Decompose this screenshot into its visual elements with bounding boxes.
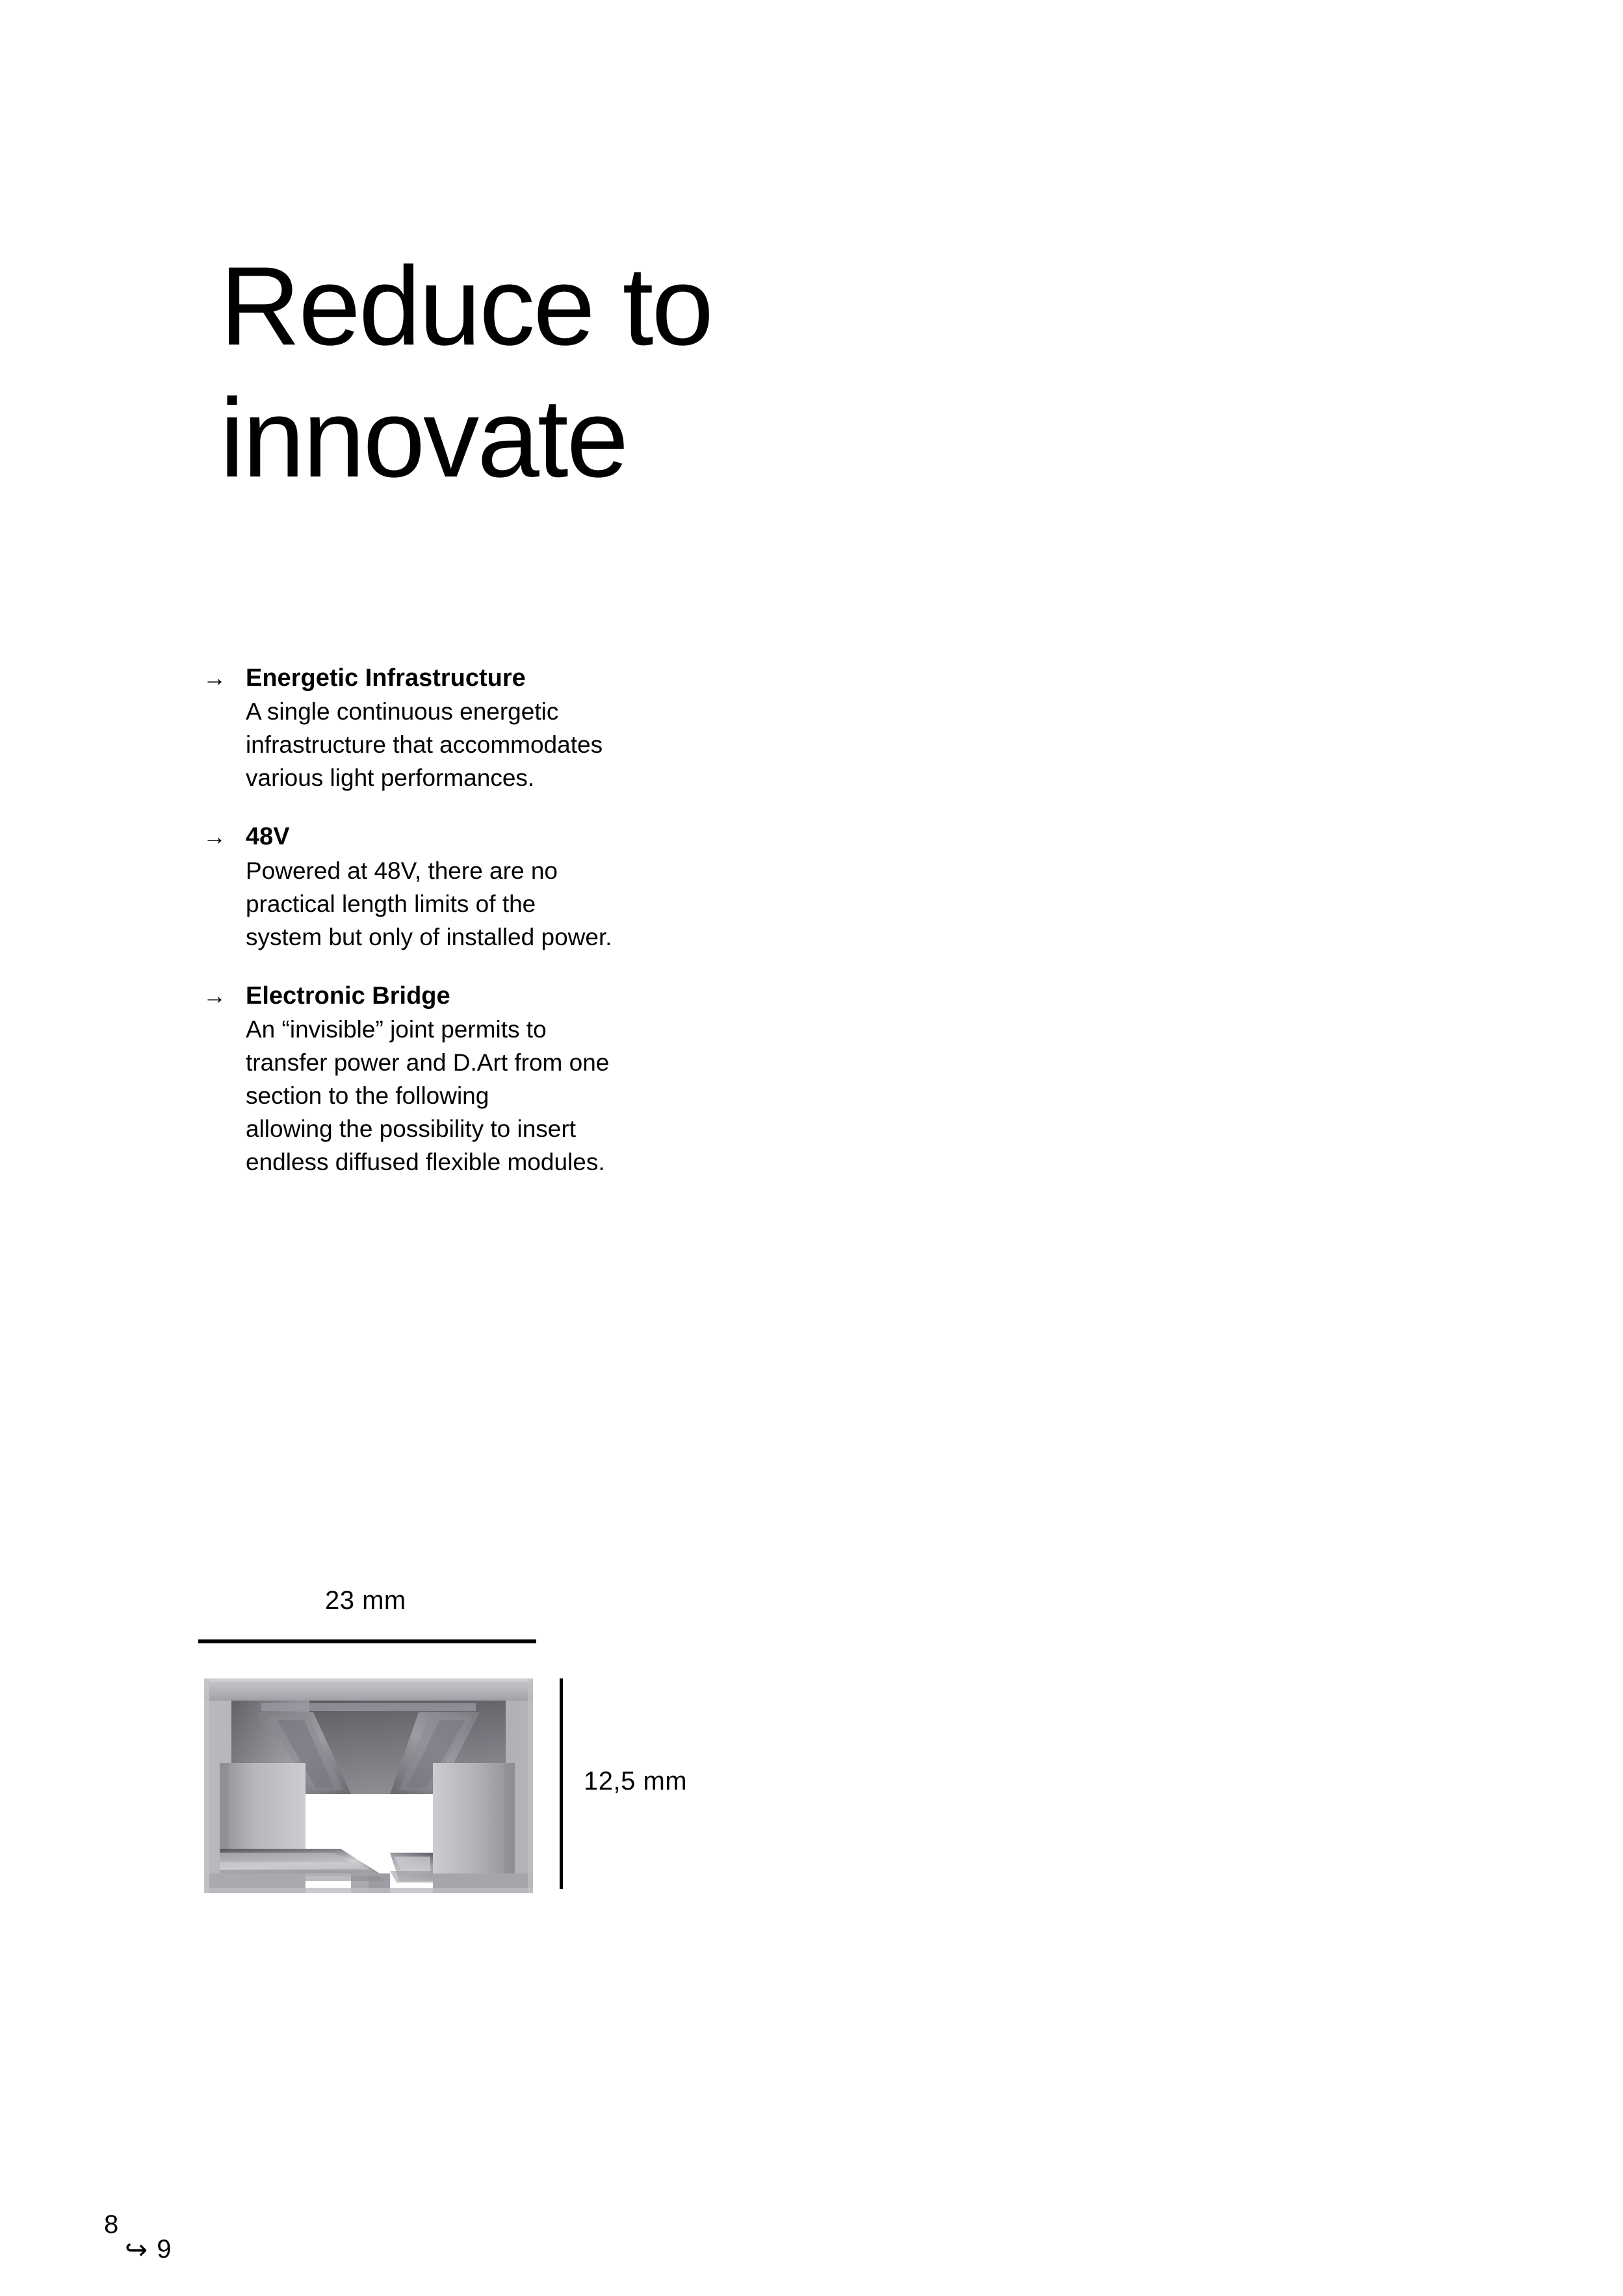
width-dimension-rule: [198, 1639, 536, 1643]
feature-list: → Energetic Infrastructure A single cont…: [203, 662, 853, 1179]
page-title-line-2: innovate: [220, 372, 1130, 504]
document-page: Reduce to innovate → Energetic Infrastru…: [0, 0, 1623, 2296]
page-title-line-1: Reduce to: [220, 241, 1130, 372]
height-dimension-label: 12,5 mm: [584, 1767, 687, 1796]
arrow-right-icon: →: [203, 980, 246, 1012]
next-page-link[interactable]: ↪ 9: [125, 2235, 171, 2264]
width-dimension-label: 23 mm: [325, 1586, 406, 1615]
height-dimension-rule: [560, 1678, 563, 1889]
arrow-right-icon: →: [203, 662, 246, 694]
feature-heading-row: → 48V: [203, 820, 853, 854]
feature-description-line: transfer power and D.Art from one: [246, 1046, 853, 1079]
profile-dimension-diagram: 23 mm: [0, 1560, 780, 1976]
current-page-number: 8: [104, 2210, 118, 2239]
page-title: Reduce to innovate: [220, 241, 1130, 504]
profile-svg: [204, 1678, 533, 1893]
aluminium-profile-cross-section-image: [204, 1678, 533, 1893]
feature-heading: 48V: [246, 820, 853, 854]
feature-description-line: various light performances.: [246, 761, 853, 794]
feature-item-48v: → 48V Powered at 48V, there are no pract…: [203, 820, 853, 953]
arrow-right-icon: →: [203, 821, 246, 853]
feature-description-line: A single continuous energetic: [246, 695, 853, 728]
feature-item-electronic-bridge: → Electronic Bridge An “invisible” joint…: [203, 980, 853, 1179]
feature-heading-row: → Electronic Bridge: [203, 980, 853, 1013]
feature-description: A single continuous energetic infrastruc…: [246, 695, 853, 794]
feature-description-line: infrastructure that accommodates: [246, 728, 853, 761]
feature-description-line: allowing the possibility to insert: [246, 1112, 853, 1145]
feature-heading: Energetic Infrastructure: [246, 662, 853, 695]
arrow-hook-right-icon: ↪: [125, 2236, 148, 2263]
feature-description-line: practical length limits of the: [246, 887, 853, 920]
page-footer: 8 ↪ 9: [97, 2210, 357, 2288]
feature-description-line: system but only of installed power.: [246, 920, 853, 954]
feature-heading-row: → Energetic Infrastructure: [203, 662, 853, 695]
feature-description-line: Powered at 48V, there are no: [246, 854, 853, 887]
feature-description: An “invisible” joint permits to transfer…: [246, 1013, 853, 1179]
next-page-number: 9: [157, 2235, 171, 2264]
feature-description-line: section to the following: [246, 1079, 853, 1112]
feature-description-line: endless diffused flexible modules.: [246, 1145, 853, 1179]
feature-item-energetic-infrastructure: → Energetic Infrastructure A single cont…: [203, 662, 853, 794]
feature-description-line: An “invisible” joint permits to: [246, 1013, 853, 1046]
feature-description: Powered at 48V, there are no practical l…: [246, 854, 853, 954]
feature-heading: Electronic Bridge: [246, 980, 853, 1013]
